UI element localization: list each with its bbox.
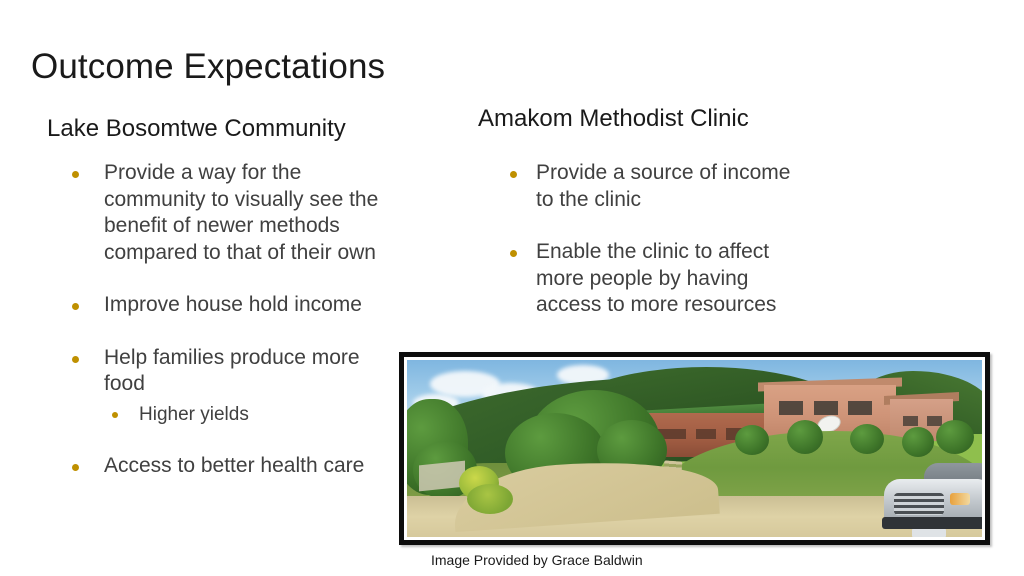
page-title: Outcome Expectations	[31, 48, 385, 87]
truck-headlight	[950, 493, 970, 505]
column-heading-amakom-methodist-clinic: Amakom Methodist Clinic	[478, 105, 749, 133]
list-item: Improve house hold income	[64, 292, 404, 319]
retaining-wall	[419, 460, 465, 491]
image-credit-caption: Image Provided by Grace Baldwin	[431, 552, 643, 568]
slide: Outcome Expectations Lake Bosomtwe Commu…	[0, 0, 1024, 576]
column-heading-lake-bosomtwe-community: Lake Bosomtwe Community	[47, 115, 346, 143]
bullet-text: Enable the clinic to affect more people …	[536, 240, 776, 316]
sub-bullet-list: Higher yields	[104, 403, 404, 427]
bullet-text: Provide a source of income to the clinic	[536, 161, 790, 211]
window	[927, 416, 942, 426]
window	[696, 429, 716, 439]
shrub	[850, 424, 884, 454]
sub-bullet-text: Higher yields	[139, 404, 249, 425]
window	[779, 401, 803, 416]
bullet-list-right: Provide a source of income to the clinic…	[500, 160, 800, 345]
window	[814, 401, 838, 416]
clinic-photo	[407, 360, 982, 537]
list-item: Provide a way for the community to visua…	[64, 160, 404, 266]
list-item: Help families produce more food Higher y…	[64, 345, 404, 427]
bullet-text: Access to better health care	[104, 454, 364, 477]
truck-grille	[894, 493, 944, 515]
bullet-list-left: Provide a way for the community to visua…	[64, 160, 404, 505]
list-item: Provide a source of income to the clinic	[500, 160, 800, 213]
sub-list-item: Higher yields	[104, 403, 404, 427]
yellow-shrub	[467, 484, 513, 514]
pickup-truck	[878, 463, 982, 537]
list-item: Access to better health care	[64, 453, 404, 480]
list-item: Enable the clinic to affect more people …	[500, 239, 800, 319]
bullet-text: Improve house hold income	[104, 293, 362, 316]
truck-bumper	[882, 517, 982, 529]
shrub	[902, 427, 934, 457]
window	[848, 401, 872, 416]
clinic-photo-frame	[399, 352, 990, 545]
bullet-text: Help families produce more food	[104, 346, 360, 396]
shrub	[787, 420, 823, 454]
window	[903, 416, 918, 426]
truck-license-plate	[912, 529, 946, 537]
bullet-text: Provide a way for the community to visua…	[104, 161, 378, 264]
shrub	[936, 420, 974, 454]
